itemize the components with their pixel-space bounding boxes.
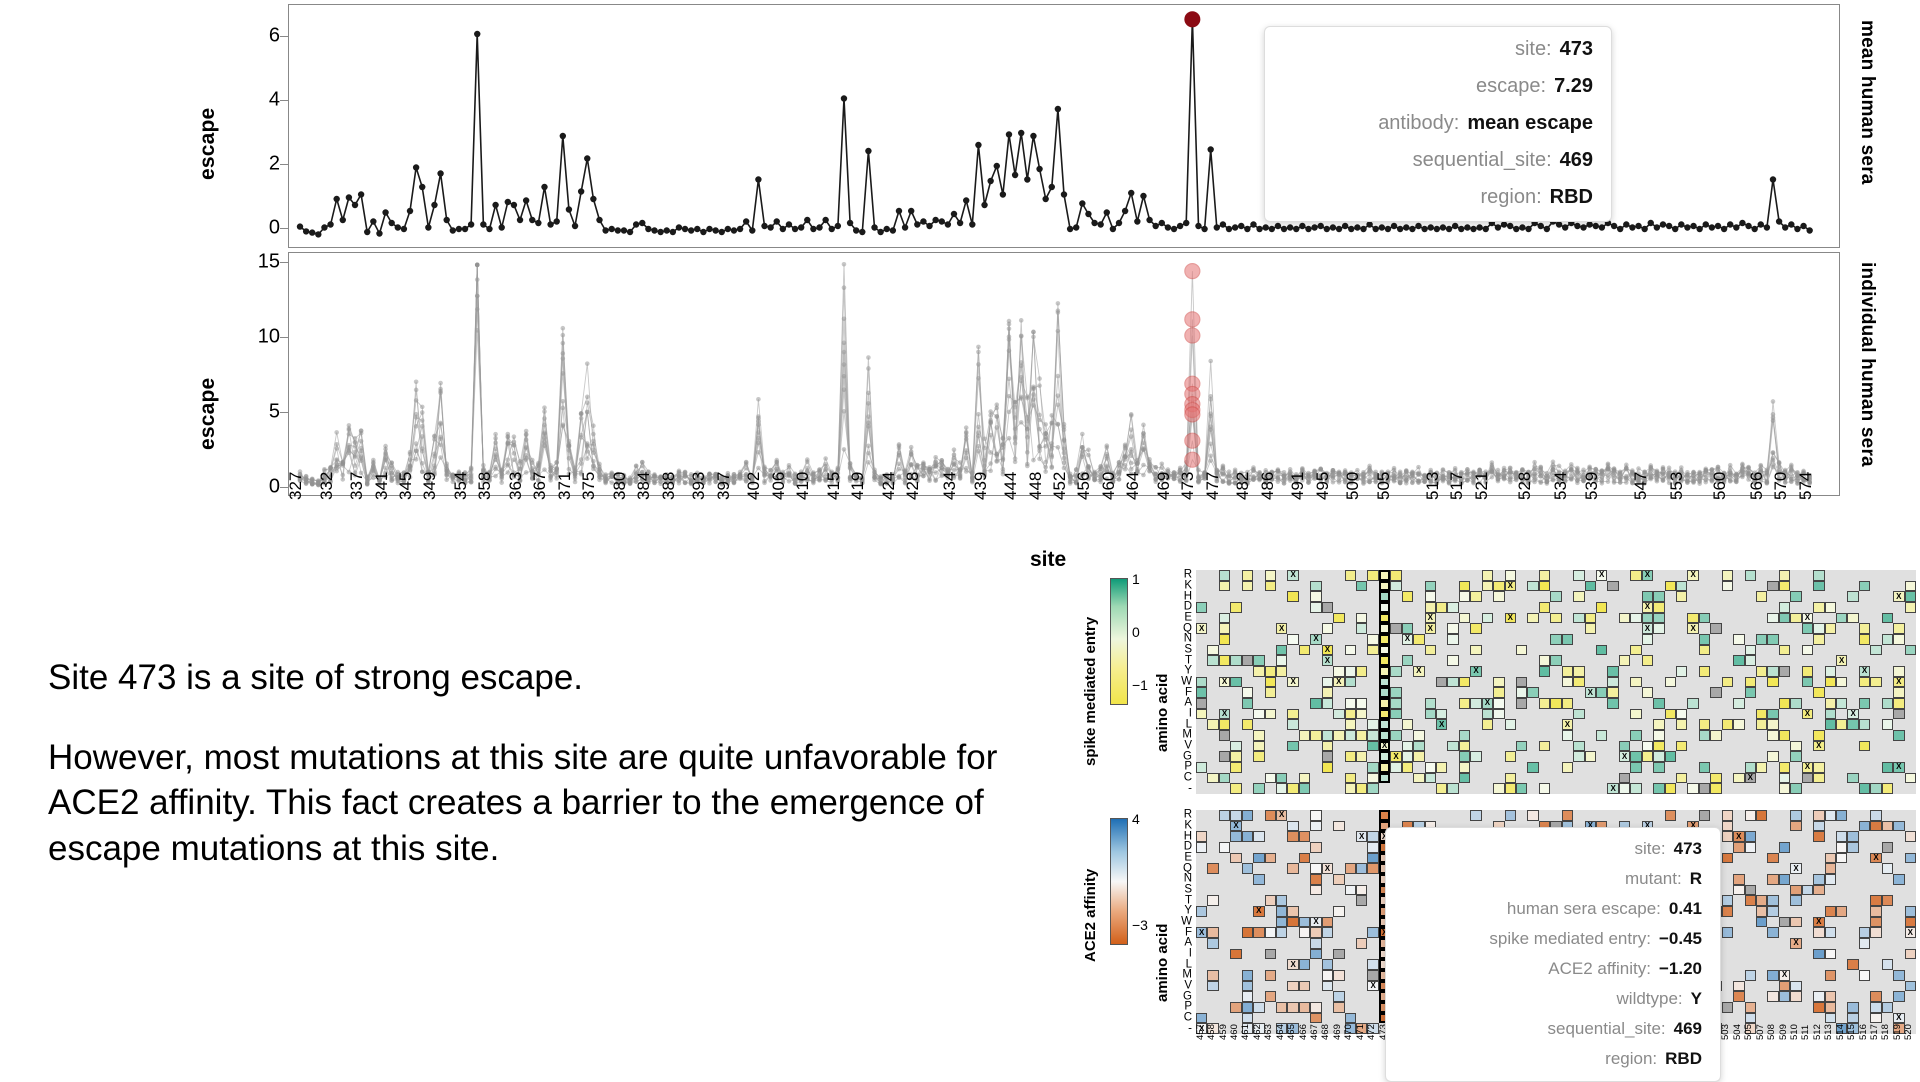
heatmap-cell[interactable]: [1287, 719, 1298, 730]
heatmap-cell[interactable]: [1379, 645, 1390, 656]
heatmap-cell[interactable]: [1836, 698, 1847, 709]
heatmap-cell[interactable]: [1242, 991, 1253, 1002]
heatmap-cell[interactable]: [1196, 687, 1207, 698]
heatmap-cell[interactable]: [1482, 613, 1493, 624]
heatmap-cell[interactable]: [1710, 773, 1721, 784]
heatmap-cell[interactable]: [1276, 783, 1287, 794]
heatmap-cell[interactable]: [1379, 810, 1390, 821]
heatmap-cell[interactable]: [1287, 906, 1298, 917]
heatmap-cell[interactable]: [1367, 831, 1378, 842]
heatmap-cell[interactable]: [1207, 927, 1218, 938]
heatmap-cell[interactable]: [1779, 917, 1790, 928]
heatmap-cell[interactable]: [1745, 895, 1756, 906]
heatmap-cell[interactable]: X: [1402, 634, 1413, 645]
heatmap-cell[interactable]: [1882, 959, 1893, 970]
heatmap-cell[interactable]: [1813, 810, 1824, 821]
heatmap-cell[interactable]: [1345, 863, 1356, 874]
heatmap-cell[interactable]: [1196, 842, 1207, 853]
heatmap-cell[interactable]: [1367, 570, 1378, 581]
heatmap-cell[interactable]: [1402, 623, 1413, 634]
heatmap-cell[interactable]: [1642, 591, 1653, 602]
heatmap-cell[interactable]: [1527, 687, 1538, 698]
heatmap-cell[interactable]: [1676, 773, 1687, 784]
heatmap-cell[interactable]: [1733, 874, 1744, 885]
heatmap-cell[interactable]: [1425, 698, 1436, 709]
heatmap-cell[interactable]: [1356, 613, 1367, 624]
heatmap-cell[interactable]: [1459, 698, 1470, 709]
heatmap-cell[interactable]: [1322, 981, 1333, 992]
heatmap-cell[interactable]: [1516, 741, 1527, 752]
heatmap-cell[interactable]: [1230, 853, 1241, 864]
heatmap-cell[interactable]: [1607, 666, 1618, 677]
heatmap-cell[interactable]: [1813, 687, 1824, 698]
heatmap-cell[interactable]: [1733, 634, 1744, 645]
heatmap-cell[interactable]: [1585, 751, 1596, 762]
heatmap-cell[interactable]: [1196, 1013, 1207, 1024]
heatmap-cell[interactable]: [1653, 698, 1664, 709]
heatmap-cell[interactable]: [1767, 709, 1778, 720]
heatmap-cell[interactable]: [1882, 821, 1893, 832]
heatmap-cell[interactable]: [1356, 623, 1367, 634]
heatmap-cell[interactable]: [1505, 751, 1516, 762]
heatmap-cell[interactable]: [1893, 970, 1904, 981]
heatmap-cell[interactable]: [1402, 741, 1413, 752]
heatmap-cell[interactable]: [1539, 602, 1550, 613]
heatmap-cell[interactable]: X: [1802, 613, 1813, 624]
heatmap-cell[interactable]: [1585, 613, 1596, 624]
heatmap-cell[interactable]: [1287, 1002, 1298, 1013]
heatmap-cell[interactable]: [1630, 570, 1641, 581]
heatmap-cell[interactable]: [1425, 581, 1436, 592]
heatmap-cell[interactable]: [1745, 762, 1756, 773]
heatmap-cell[interactable]: [1230, 655, 1241, 666]
heatmap-cell[interactable]: X: [1287, 677, 1298, 688]
heatmap-cell[interactable]: [1287, 863, 1298, 874]
heatmap-cell[interactable]: [1870, 677, 1881, 688]
heatmap-cell[interactable]: [1825, 1013, 1836, 1024]
heatmap-cell[interactable]: [1333, 1002, 1344, 1013]
heatmap-cell[interactable]: [1287, 981, 1298, 992]
heatmap-cell[interactable]: [1905, 906, 1916, 917]
heatmap-cell[interactable]: [1322, 741, 1333, 752]
heatmap-cell[interactable]: [1756, 895, 1767, 906]
heatmap-cell[interactable]: [1505, 719, 1516, 730]
heatmap-cell[interactable]: [1276, 906, 1287, 917]
heatmap-cell[interactable]: [1767, 906, 1778, 917]
heatmap-cell[interactable]: [1333, 949, 1344, 960]
heatmap-cell[interactable]: [1733, 842, 1744, 853]
heatmap-cell[interactable]: [1882, 783, 1893, 794]
heatmap-cell[interactable]: [1550, 698, 1561, 709]
heatmap-cell[interactable]: [1745, 831, 1756, 842]
heatmap-cell[interactable]: [1390, 698, 1401, 709]
heatmap-cell[interactable]: [1425, 602, 1436, 613]
heatmap-cell[interactable]: X: [1642, 570, 1653, 581]
heatmap-cell[interactable]: [1379, 581, 1390, 592]
heatmap-cell[interactable]: [1859, 927, 1870, 938]
heatmap-cell[interactable]: [1779, 783, 1790, 794]
heatmap-cell[interactable]: [1390, 581, 1401, 592]
heatmap-cell[interactable]: [1699, 762, 1710, 773]
heatmap-cell[interactable]: [1287, 634, 1298, 645]
heatmap-cell[interactable]: [1276, 927, 1287, 938]
heatmap-cell[interactable]: X: [1276, 623, 1287, 634]
heatmap-cell[interactable]: [1505, 783, 1516, 794]
heatmap-cell[interactable]: [1196, 762, 1207, 773]
heatmap-cell[interactable]: [1493, 687, 1504, 698]
heatmap-cell[interactable]: [1870, 906, 1881, 917]
heatmap-cell[interactable]: [1310, 863, 1321, 874]
heatmap-cell[interactable]: [1859, 938, 1870, 949]
heatmap-cell[interactable]: [1367, 853, 1378, 864]
heatmap-cell[interactable]: [1333, 613, 1344, 624]
heatmap-cell[interactable]: X: [1333, 677, 1344, 688]
heatmap-cell[interactable]: [1665, 677, 1676, 688]
heatmap-cell[interactable]: [1847, 613, 1858, 624]
heatmap-cell[interactable]: [1756, 591, 1767, 602]
heatmap-cell[interactable]: X: [1687, 570, 1698, 581]
heatmap-cell[interactable]: [1847, 1002, 1858, 1013]
heatmap-cell[interactable]: [1802, 666, 1813, 677]
heatmap-cell[interactable]: [1333, 730, 1344, 741]
heatmap-cell[interactable]: [1596, 730, 1607, 741]
heatmap-cell[interactable]: [1653, 730, 1664, 741]
heatmap-cell[interactable]: [1459, 773, 1470, 784]
heatmap-cell[interactable]: [1516, 783, 1527, 794]
heatmap-cell[interactable]: [1779, 773, 1790, 784]
heatmap-cell[interactable]: [1630, 783, 1641, 794]
heatmap-cell[interactable]: [1367, 645, 1378, 656]
heatmap-cell[interactable]: [1630, 613, 1641, 624]
heatmap-cell[interactable]: [1299, 645, 1310, 656]
heatmap-cell[interactable]: [1870, 1013, 1881, 1024]
heatmap-cell[interactable]: [1299, 959, 1310, 970]
heatmap-cell[interactable]: [1722, 895, 1733, 906]
heatmap-cell[interactable]: X: [1859, 666, 1870, 677]
heatmap-cell[interactable]: [1790, 917, 1801, 928]
heatmap-cell[interactable]: [1276, 666, 1287, 677]
heatmap-cell[interactable]: X: [1425, 623, 1436, 634]
heatmap-cell[interactable]: [1196, 709, 1207, 720]
heatmap-cell[interactable]: [1230, 602, 1241, 613]
heatmap-cell[interactable]: [1242, 863, 1253, 874]
heatmap-cell[interactable]: [1356, 666, 1367, 677]
heatmap-cell[interactable]: [1733, 981, 1744, 992]
heatmap-cell[interactable]: [1253, 666, 1264, 677]
heatmap-cell[interactable]: [1482, 570, 1493, 581]
heatmap-cell[interactable]: [1367, 762, 1378, 773]
heatmap-cell[interactable]: [1413, 634, 1424, 645]
heatmap-cell[interactable]: [1893, 634, 1904, 645]
heatmap-cell[interactable]: [1710, 687, 1721, 698]
heatmap-cell[interactable]: [1242, 581, 1253, 592]
heatmap-cell[interactable]: [1905, 591, 1916, 602]
heatmap-cell[interactable]: [1390, 666, 1401, 677]
heatmap-cell[interactable]: [1745, 1002, 1756, 1013]
heatmap-cell[interactable]: [1505, 570, 1516, 581]
heatmap-cell[interactable]: [1367, 959, 1378, 970]
heatmap-cell[interactable]: [1219, 810, 1230, 821]
heatmap-cell[interactable]: [1322, 730, 1333, 741]
heatmap-cell[interactable]: [1196, 698, 1207, 709]
heatmap-cell[interactable]: [1790, 810, 1801, 821]
heatmap-cell[interactable]: [1436, 709, 1447, 720]
heatmap-cell[interactable]: [1745, 677, 1756, 688]
heatmap-cell[interactable]: [1299, 730, 1310, 741]
heatmap-cell[interactable]: [1287, 709, 1298, 720]
heatmap-cell[interactable]: [1436, 783, 1447, 794]
heatmap-cell[interactable]: [1379, 762, 1390, 773]
heatmap-cell[interactable]: [1253, 655, 1264, 666]
heatmap-cell[interactable]: [1379, 655, 1390, 666]
heatmap-cell[interactable]: [1379, 677, 1390, 688]
heatmap-cell[interactable]: [1265, 773, 1276, 784]
heatmap-cell[interactable]: [1893, 874, 1904, 885]
heatmap-cell[interactable]: X: [1219, 677, 1230, 688]
heatmap-cell[interactable]: [1825, 709, 1836, 720]
heatmap-cell[interactable]: X: [1619, 751, 1630, 762]
heatmap-cell[interactable]: [1722, 677, 1733, 688]
heatmap-cell[interactable]: [1905, 831, 1916, 842]
heatmap-cell[interactable]: [1790, 895, 1801, 906]
heatmap-cell[interactable]: X: [1482, 698, 1493, 709]
heatmap-cell[interactable]: [1219, 719, 1230, 730]
heatmap-cell[interactable]: [1767, 751, 1778, 762]
heatmap-cell[interactable]: [1242, 687, 1253, 698]
heatmap-cell[interactable]: [1253, 831, 1264, 842]
heatmap-cell[interactable]: [1722, 1002, 1733, 1013]
heatmap-cell[interactable]: [1699, 666, 1710, 677]
heatmap-cell[interactable]: [1345, 698, 1356, 709]
heatmap-cell[interactable]: [1322, 917, 1333, 928]
heatmap-cell[interactable]: [1207, 938, 1218, 949]
heatmap-cell[interactable]: [1825, 719, 1836, 730]
heatmap-cell[interactable]: [1402, 751, 1413, 762]
heatmap-cell[interactable]: [1767, 634, 1778, 645]
heatmap-cell[interactable]: X: [1802, 762, 1813, 773]
heatmap-cell[interactable]: [1653, 783, 1664, 794]
heatmap-cell[interactable]: [1539, 741, 1550, 752]
heatmap-cell[interactable]: [1722, 831, 1733, 842]
heatmap-cell[interactable]: [1493, 698, 1504, 709]
heatmap-cell[interactable]: [1779, 613, 1790, 624]
heatmap-cell[interactable]: [1825, 853, 1836, 864]
heatmap-cell[interactable]: [1265, 991, 1276, 1002]
heatmap-cell[interactable]: [1722, 927, 1733, 938]
heatmap-cell[interactable]: [1767, 927, 1778, 938]
heatmap-cell[interactable]: [1367, 773, 1378, 784]
heatmap-cell[interactable]: [1413, 751, 1424, 762]
heatmap-cell[interactable]: [1859, 623, 1870, 634]
heatmap-cell[interactable]: [1447, 783, 1458, 794]
heatmap-cell[interactable]: [1379, 602, 1390, 613]
heatmap-cell[interactable]: [1893, 821, 1904, 832]
heatmap-cell[interactable]: [1779, 581, 1790, 592]
heatmap-cell[interactable]: [1242, 655, 1253, 666]
heatmap-cell[interactable]: [1562, 762, 1573, 773]
heatmap-cell[interactable]: [1745, 1013, 1756, 1024]
heatmap-cell[interactable]: [1390, 570, 1401, 581]
heatmap-cell[interactable]: [1219, 570, 1230, 581]
heatmap-cell[interactable]: [1299, 1002, 1310, 1013]
heatmap-cell[interactable]: [1299, 927, 1310, 938]
heatmap-cell[interactable]: [1847, 959, 1858, 970]
heatmap-cell[interactable]: [1573, 570, 1584, 581]
heatmap-cell[interactable]: [1630, 751, 1641, 762]
heatmap-cell[interactable]: [1265, 709, 1276, 720]
heatmap-cell[interactable]: [1756, 634, 1767, 645]
heatmap-cell[interactable]: [1242, 981, 1253, 992]
heatmap-cell[interactable]: [1322, 623, 1333, 634]
heatmap-cell[interactable]: [1356, 895, 1367, 906]
heatmap-cell[interactable]: [1345, 666, 1356, 677]
heatmap-cell[interactable]: [1345, 645, 1356, 656]
heatmap-cell[interactable]: X: [1505, 613, 1516, 624]
heatmap-cell[interactable]: [1722, 853, 1733, 864]
heatmap-cell[interactable]: [1859, 677, 1870, 688]
heatmap-cell[interactable]: [1779, 991, 1790, 1002]
heatmap-cell[interactable]: [1585, 581, 1596, 592]
heatmap-cell[interactable]: [1299, 783, 1310, 794]
heatmap-cell[interactable]: [1367, 927, 1378, 938]
heatmap-cell[interactable]: X: [1356, 831, 1367, 842]
heatmap-cell[interactable]: [1356, 698, 1367, 709]
heatmap-cell[interactable]: [1676, 741, 1687, 752]
heatmap-cell[interactable]: [1242, 970, 1253, 981]
heatmap-cell[interactable]: [1767, 991, 1778, 1002]
heatmap-cell[interactable]: [1870, 645, 1881, 656]
heatmap-cell[interactable]: [1459, 677, 1470, 688]
heatmap-cell[interactable]: X: [1276, 810, 1287, 821]
heatmap-cell[interactable]: [1310, 1013, 1321, 1024]
heatmap-cell[interactable]: [1310, 885, 1321, 896]
heatmap-cell[interactable]: [1607, 698, 1618, 709]
heatmap-cell[interactable]: [1882, 863, 1893, 874]
heatmap-cell[interactable]: [1813, 762, 1824, 773]
heatmap-cell[interactable]: [1733, 655, 1744, 666]
heatmap-cell[interactable]: [1699, 613, 1710, 624]
heatmap-cell[interactable]: [1322, 677, 1333, 688]
heatmap-cell[interactable]: X: [1893, 762, 1904, 773]
heatmap-cell[interactable]: [1562, 677, 1573, 688]
heatmap-cell[interactable]: [1836, 842, 1847, 853]
heatmap-cell[interactable]: [1265, 687, 1276, 698]
heatmap-cell[interactable]: [1345, 570, 1356, 581]
heatmap-cell[interactable]: [1379, 623, 1390, 634]
heatmap-cell[interactable]: [1790, 981, 1801, 992]
heatmap-cell[interactable]: [1310, 927, 1321, 938]
heatmap-cell[interactable]: [1413, 730, 1424, 741]
heatmap-cell[interactable]: [1413, 741, 1424, 752]
heatmap-cell[interactable]: [1710, 730, 1721, 741]
heatmap-cell[interactable]: [1905, 917, 1916, 928]
heatmap-cell[interactable]: [1722, 821, 1733, 832]
heatmap-cell[interactable]: [1265, 970, 1276, 981]
heatmap-cell[interactable]: [1813, 623, 1824, 634]
heatmap-cell[interactable]: [1676, 709, 1687, 720]
heatmap-cell[interactable]: [1813, 991, 1824, 1002]
heatmap-cell[interactable]: [1882, 842, 1893, 853]
heatmap-cell[interactable]: [1813, 949, 1824, 960]
heatmap-cell[interactable]: X: [1847, 709, 1858, 720]
heatmap-cell[interactable]: [1505, 773, 1516, 784]
heatmap-cell[interactable]: [1665, 709, 1676, 720]
heatmap-cell[interactable]: [1207, 655, 1218, 666]
heatmap-cell[interactable]: [1253, 783, 1264, 794]
heatmap-cell[interactable]: [1333, 970, 1344, 981]
heatmap-cell[interactable]: [1390, 709, 1401, 720]
heatmap-cell[interactable]: [1459, 613, 1470, 624]
heatmap-cell[interactable]: [1596, 645, 1607, 656]
heatmap-cell[interactable]: X: [1425, 613, 1436, 624]
heatmap-cell[interactable]: [1539, 570, 1550, 581]
heatmap-cell[interactable]: [1436, 602, 1447, 613]
heatmap-cell[interactable]: [1825, 906, 1836, 917]
heatmap-cell[interactable]: [1310, 698, 1321, 709]
heatmap-cell[interactable]: [1265, 853, 1276, 864]
heatmap-cell[interactable]: [1402, 719, 1413, 730]
heatmap-cell[interactable]: [1550, 634, 1561, 645]
heatmap-cell[interactable]: [1310, 581, 1321, 592]
heatmap-cell[interactable]: [1447, 655, 1458, 666]
heatmap-cell[interactable]: [1779, 981, 1790, 992]
heatmap-cell[interactable]: X: [1836, 655, 1847, 666]
heatmap-cell[interactable]: [1767, 613, 1778, 624]
heatmap-cell[interactable]: [1813, 581, 1824, 592]
heatmap-cell[interactable]: [1813, 874, 1824, 885]
heatmap-cell[interactable]: [1482, 709, 1493, 720]
heatmap-cell[interactable]: [1367, 741, 1378, 752]
heatmap-cell[interactable]: [1367, 842, 1378, 853]
heatmap-cell[interactable]: [1379, 709, 1390, 720]
heatmap-cell[interactable]: [1722, 810, 1733, 821]
heatmap-cell[interactable]: [1733, 991, 1744, 1002]
heatmap-cell[interactable]: [1459, 591, 1470, 602]
heatmap-cell[interactable]: [1413, 773, 1424, 784]
heatmap-cell[interactable]: [1642, 613, 1653, 624]
heatmap-cell[interactable]: [1825, 602, 1836, 613]
heatmap-cell[interactable]: [1745, 655, 1756, 666]
heatmap-cell[interactable]: [1653, 602, 1664, 613]
heatmap-cell[interactable]: [1687, 613, 1698, 624]
heatmap-cell[interactable]: [1893, 666, 1904, 677]
heatmap-cell[interactable]: [1562, 730, 1573, 741]
heatmap-cell[interactable]: [1379, 666, 1390, 677]
heatmap-cell[interactable]: [1813, 821, 1824, 832]
heatmap-cell[interactable]: [1699, 634, 1710, 645]
heatmap-cell[interactable]: [1802, 677, 1813, 688]
heatmap-cell[interactable]: [1813, 570, 1824, 581]
heatmap-cell[interactable]: [1345, 783, 1356, 794]
heatmap-cell[interactable]: [1265, 570, 1276, 581]
heatmap-cell[interactable]: [1207, 863, 1218, 874]
heatmap-cell[interactable]: X: [1893, 591, 1904, 602]
heatmap-cell[interactable]: [1539, 666, 1550, 677]
heatmap-cell[interactable]: [1242, 1002, 1253, 1013]
heatmap-cell[interactable]: [1493, 591, 1504, 602]
heatmap-cell[interactable]: [1790, 698, 1801, 709]
heatmap-cell[interactable]: [1790, 821, 1801, 832]
heatmap-cell[interactable]: [1219, 634, 1230, 645]
heatmap-cell[interactable]: [1699, 645, 1710, 656]
heatmap-cell[interactable]: [1345, 677, 1356, 688]
heatmap-cell[interactable]: [1745, 570, 1756, 581]
heatmap-cell[interactable]: [1836, 810, 1847, 821]
heatmap-cell[interactable]: [1653, 741, 1664, 752]
heatmap-cell[interactable]: [1333, 821, 1344, 832]
heatmap-cell[interactable]: [1527, 613, 1538, 624]
heatmap-cell[interactable]: [1287, 591, 1298, 602]
